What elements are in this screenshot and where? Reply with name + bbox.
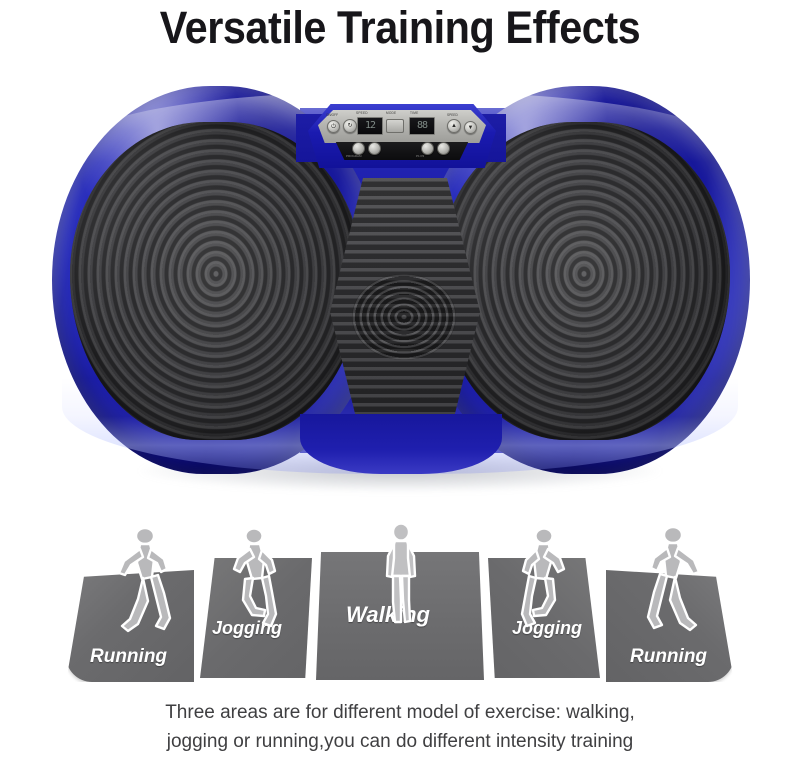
preset-p4-button[interactable] xyxy=(437,142,450,155)
caption-line-1: Three areas are for different model of e… xyxy=(0,698,800,727)
zone-label: Running xyxy=(90,646,167,668)
jogging-figure-left xyxy=(222,524,290,636)
caption: Three areas are for different model of e… xyxy=(0,698,800,756)
mode-icon: ↻ xyxy=(344,120,356,132)
pad-sheen-left xyxy=(70,122,362,440)
platform-bottom-notch xyxy=(300,414,502,474)
speed-down-button[interactable]: ▼ xyxy=(464,121,477,134)
preset-p2-button[interactable] xyxy=(368,142,381,155)
page-title: Versatile Training Effects xyxy=(32,2,768,54)
platform-center-rings xyxy=(352,274,456,360)
speed-display-value: 12 xyxy=(358,118,382,133)
time-display-value: 88 xyxy=(410,118,434,133)
speed-up-button[interactable]: ▲ xyxy=(447,119,461,133)
power-label: ON/OFF xyxy=(326,113,338,117)
mode-indicator-label: MODE xyxy=(386,111,396,115)
mode-indicator-icon xyxy=(386,119,404,133)
time-display: 88 xyxy=(409,117,435,135)
walking-figure-center xyxy=(378,520,424,636)
chevron-up-icon: ▲ xyxy=(448,120,460,132)
chevron-down-icon: ▼ xyxy=(465,122,476,133)
running-figure-right xyxy=(640,524,714,642)
power-button[interactable]: ⏻ xyxy=(327,120,340,133)
running-figure-left xyxy=(104,525,178,643)
time-display-label: TIME xyxy=(410,111,418,115)
foot-pad-right xyxy=(438,122,730,440)
foot-pad-left xyxy=(70,122,362,440)
preset-group-label: P1 P2 xyxy=(416,154,424,158)
pad-sheen-right xyxy=(438,122,730,440)
speed-label: SPEED xyxy=(447,113,458,117)
caption-line-2: jogging or running,you can do different … xyxy=(0,727,800,756)
speed-display: 12 xyxy=(357,117,383,135)
training-zones-diagram: Running Jogging Walking Jogging Running xyxy=(0,520,800,685)
program-group-label: PROGRAM xyxy=(346,154,362,158)
jogging-figure-right xyxy=(508,524,576,636)
mode-button[interactable]: ↻ xyxy=(343,119,357,133)
power-icon: ⏻ xyxy=(328,121,339,132)
product-image: SPEED MODE TIME 12 88 ON/OFF SPEED ⏻ ↻ ▲… xyxy=(0,78,800,508)
zone-label: Running xyxy=(630,646,707,668)
speed-display-label: SPEED xyxy=(356,111,368,115)
